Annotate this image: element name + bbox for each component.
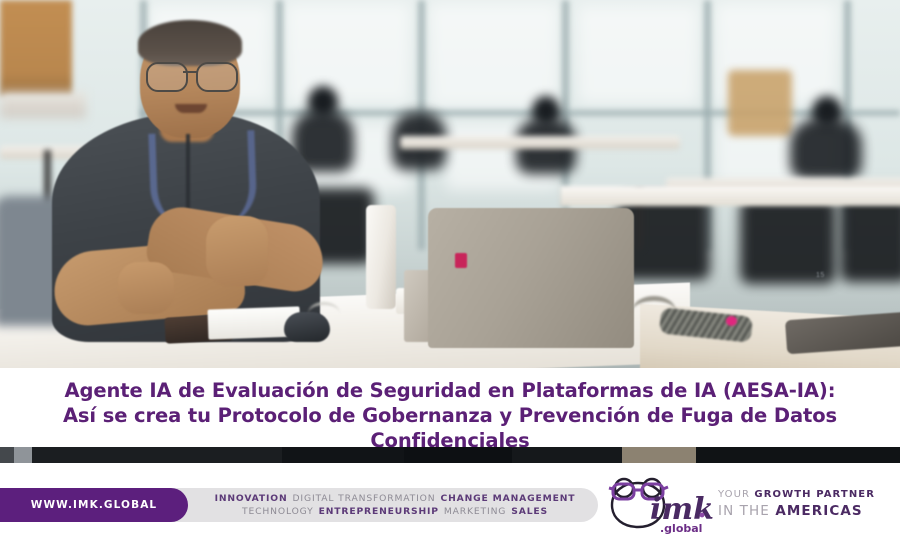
strip-segment [14, 447, 32, 463]
glasses-face-logo-icon: imk .global [604, 475, 716, 535]
tagline-growth-partner: GROWTH PARTNER [754, 489, 875, 500]
keyword-digital-transformation: DIGITAL TRANSFORMATION [293, 492, 436, 505]
svg-text:.global: .global [660, 522, 702, 535]
water-bottle [366, 205, 396, 309]
photo-strip [0, 447, 900, 463]
window-pane [430, 4, 558, 108]
wall-panel-light [0, 92, 86, 118]
imk-global-logo[interactable]: imk .global [604, 475, 716, 535]
background-chair [728, 70, 792, 136]
laptop-logo-mark [455, 253, 467, 268]
hero-photo: 15 [0, 0, 900, 368]
website-url-pill[interactable]: WWW.IMK.GLOBAL [0, 488, 188, 522]
footer-bar: INNOVATION DIGITAL TRANSFORMATION CHANGE… [0, 463, 900, 560]
tagline-your: YOUR [718, 489, 750, 500]
keyword-innovation: INNOVATION [215, 492, 288, 505]
strip-segment [512, 447, 622, 463]
keychain-charm [726, 316, 737, 326]
glasses-bridge [183, 71, 198, 73]
strip-segment [622, 447, 696, 463]
subject-fist [118, 262, 174, 314]
strip-segment [696, 447, 900, 463]
keyword-technology: TECHNOLOGY [242, 505, 314, 518]
title-line-2: Así se crea tu Protocolo de Gobernanza y… [63, 404, 837, 427]
strip-segment [32, 447, 282, 463]
strip-segment [282, 447, 404, 463]
eyeglasses [146, 62, 238, 88]
keywords-line-2: TECHNOLOGY ENTREPRENEURSHIP MARKETING SA… [200, 505, 548, 518]
subject-mouth [175, 104, 207, 113]
keywords-band: INNOVATION DIGITAL TRANSFORMATION CHANGE… [150, 488, 598, 522]
laptop [428, 208, 634, 348]
subject-hand [206, 216, 268, 286]
window-pane [578, 6, 698, 104]
lens-left [146, 62, 188, 92]
tagline-line-2: IN THE AMERICAS [718, 503, 894, 519]
wall-panel-tan [0, 0, 72, 96]
background-person [790, 118, 862, 180]
keywords-line-1: INNOVATION DIGITAL TRANSFORMATION CHANGE… [173, 492, 576, 505]
website-url-label: WWW.IMK.GLOBAL [31, 499, 157, 511]
photo-faint-mark: 15 [816, 272, 825, 279]
tagline-in-the: IN THE [718, 503, 770, 519]
keyword-entrepreneurship: ENTREPRENEURSHIP [319, 505, 439, 518]
subject-hair [138, 20, 242, 66]
strip-segment [404, 447, 512, 463]
background-table [400, 136, 680, 149]
mid-table [560, 186, 900, 206]
keyword-change-management: CHANGE MANAGEMENT [440, 492, 575, 505]
title-line-1: Agente IA de Evaluación de Seguridad en … [65, 379, 836, 402]
tagline-line-1: YOUR GROWTH PARTNER [718, 487, 894, 503]
keyword-sales: SALES [511, 505, 548, 518]
page-title: Agente IA de Evaluación de Seguridad en … [35, 378, 865, 453]
brand-tagline: YOUR GROWTH PARTNER IN THE AMERICAS [718, 487, 894, 519]
lens-right [196, 62, 238, 92]
cable [308, 302, 340, 325]
strip-segment [0, 447, 14, 463]
keyword-marketing: MARKETING [444, 505, 506, 518]
tagline-americas: AMERICAS [775, 503, 862, 519]
window-pane [286, 4, 410, 104]
